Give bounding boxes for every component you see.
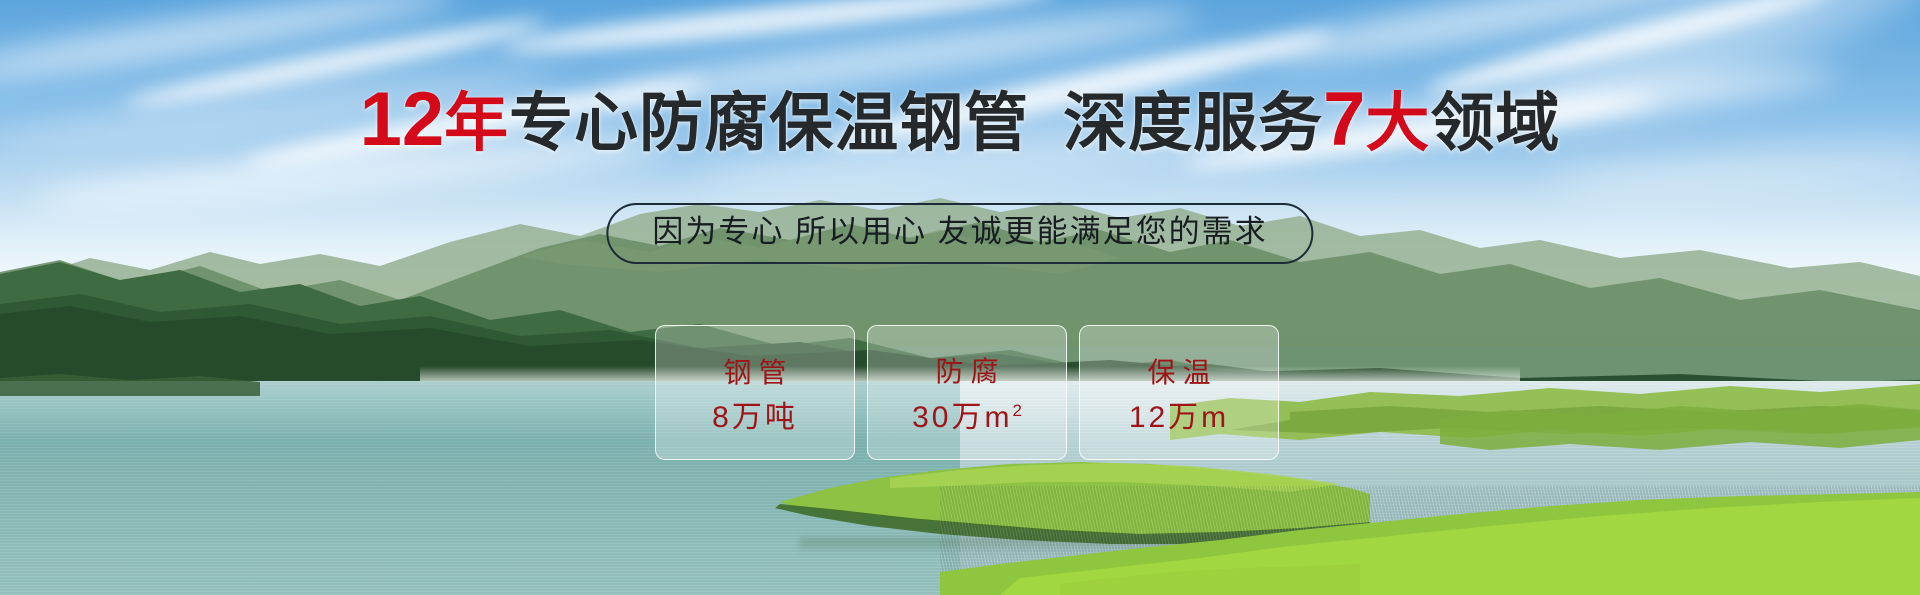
stat-card-value-text: 8万吨 <box>712 401 798 434</box>
grass-fringe <box>1060 560 1360 595</box>
subtitle-pill: 因为专心 所以用心 友诚更能满足您的需求 <box>606 203 1313 264</box>
stat-card-value-text: 30万m <box>912 401 1012 434</box>
stat-card-group: 钢管 8万吨 防腐 30万m2 保温 12万m <box>655 325 1279 460</box>
headline-fields-number: 7 <box>1323 77 1365 162</box>
headline-main-text: 专心防腐保温钢管 <box>509 87 1029 159</box>
stat-card-title: 保温 <box>1140 359 1217 387</box>
stat-card-value: 30万m2 <box>912 402 1022 433</box>
stat-card-value-superscript: 2 <box>1012 401 1021 420</box>
headline: 12年专心防腐保温钢管深度服务7大领域 <box>0 82 1920 158</box>
stat-card-anticorrosion[interactable]: 防腐 30万m2 <box>867 325 1067 460</box>
headline-fields-unit: 大 <box>1365 87 1430 159</box>
left-shore <box>0 370 260 396</box>
headline-years-unit: 年 <box>444 87 509 159</box>
stat-card-insulation[interactable]: 保温 12万m <box>1079 325 1279 460</box>
stat-card-value: 8万吨 <box>712 403 798 433</box>
headline-years-number: 12 <box>360 77 445 162</box>
far-wetland-patch <box>1440 392 1920 462</box>
headline-service-text: 深度服务 <box>1063 87 1323 159</box>
stat-card-title: 防腐 <box>928 358 1005 386</box>
stat-card-title: 钢管 <box>716 359 793 387</box>
stat-card-value: 12万m <box>1129 403 1229 433</box>
promo-banner: 12年专心防腐保温钢管深度服务7大领域 因为专心 所以用心 友诚更能满足您的需求… <box>0 0 1920 595</box>
stat-card-steel-pipe[interactable]: 钢管 8万吨 <box>655 325 855 460</box>
stat-card-value-text: 12万m <box>1129 401 1229 434</box>
headline-fields-tail: 领域 <box>1430 87 1560 159</box>
subtitle-text: 因为专心 所以用心 友诚更能满足您的需求 <box>652 214 1267 249</box>
